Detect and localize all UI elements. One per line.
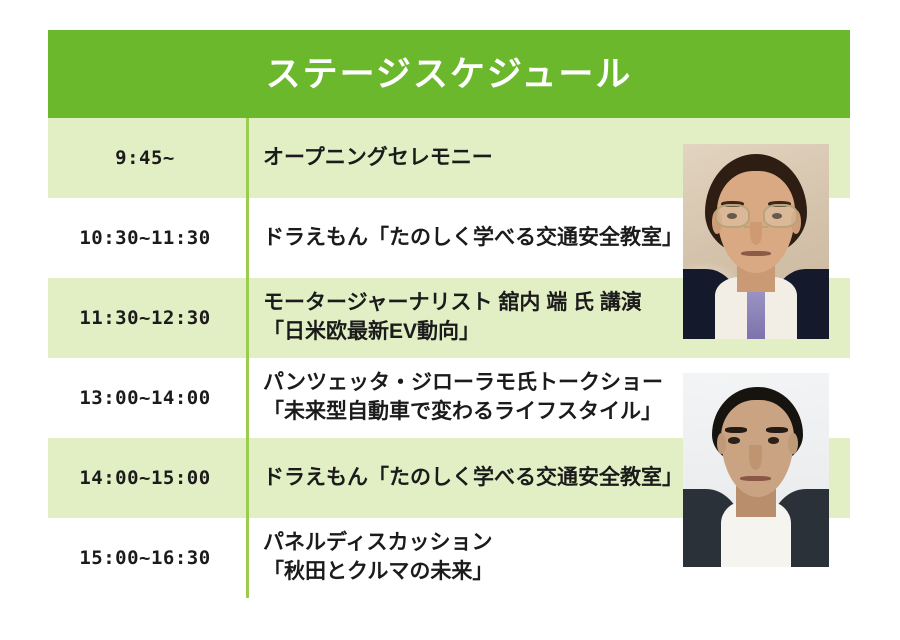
nose — [749, 445, 762, 470]
time-text: 10:30~11:30 — [79, 227, 210, 249]
time-cell: 13:00~14:00 — [48, 358, 246, 438]
time-cell: 10:30~11:30 — [48, 198, 246, 278]
portrait-photo-speaker-1 — [683, 144, 829, 339]
portrait-photo-speaker-2 — [683, 373, 829, 567]
time-text: 14:00~15:00 — [79, 467, 210, 489]
time-text: 15:00~16:30 — [79, 547, 210, 569]
time-text: 13:00~14:00 — [79, 387, 210, 409]
time-cell: 11:30~12:30 — [48, 278, 246, 358]
glasses-lens-right — [763, 204, 798, 227]
nose — [750, 222, 762, 245]
mouth — [740, 476, 771, 481]
necktie — [747, 288, 765, 339]
mouth — [741, 251, 770, 256]
time-text: 11:30~12:30 — [79, 307, 210, 329]
glasses-lens-left — [715, 204, 750, 227]
time-cell: 9:45~ — [48, 118, 246, 198]
time-cell: 14:00~15:00 — [48, 438, 246, 518]
schedule-header: ステージスケジュール — [48, 30, 850, 118]
eye-left — [728, 437, 740, 444]
eyebrow-right — [766, 427, 788, 433]
page-title: ステージスケジュール — [266, 57, 633, 92]
eyebrow-left — [725, 427, 747, 433]
time-cell: 15:00~16:30 — [48, 518, 246, 598]
time-text: 9:45~ — [115, 147, 175, 169]
ear-right — [788, 433, 797, 454]
eye-right — [768, 437, 780, 444]
